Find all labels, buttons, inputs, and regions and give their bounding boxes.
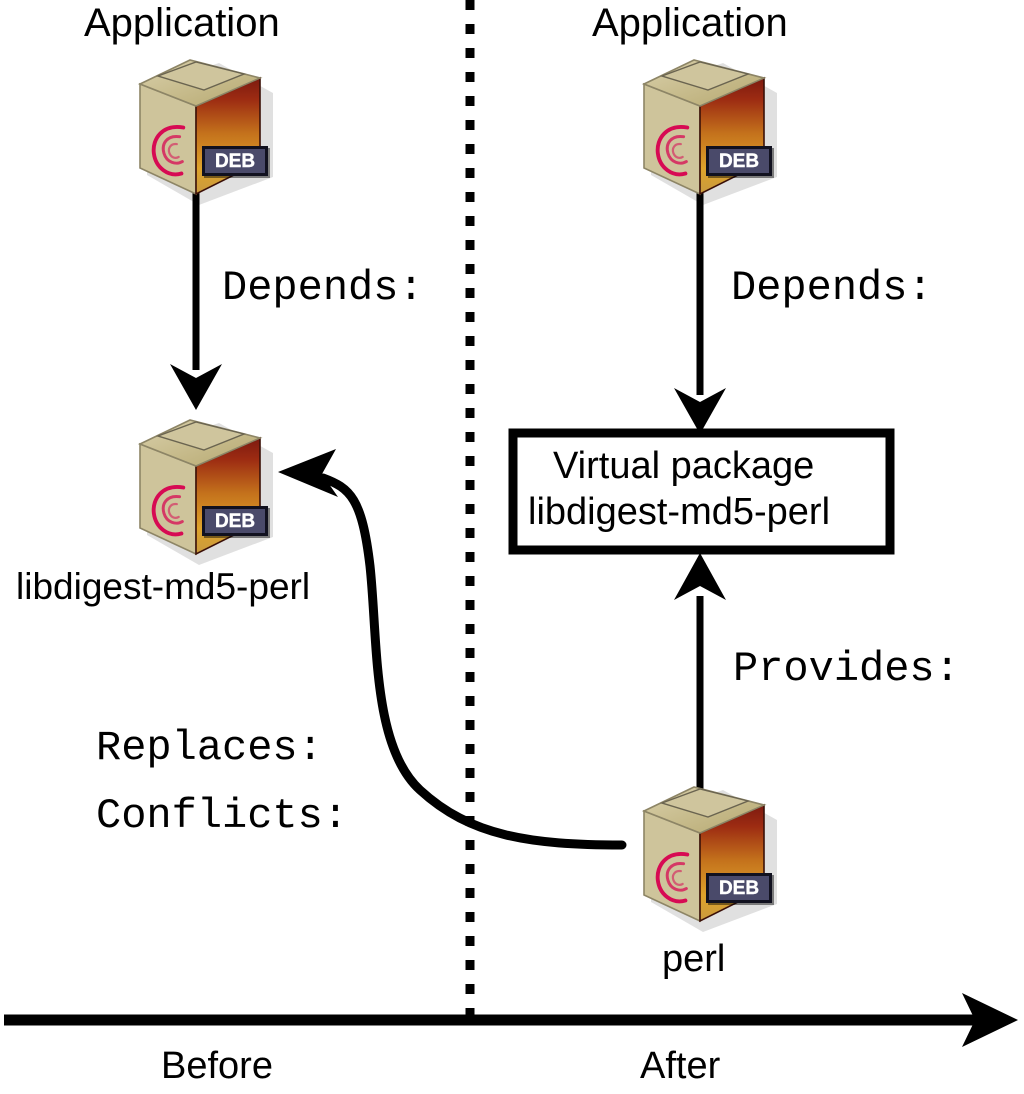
package-box-shape <box>118 48 278 208</box>
deb-badge: DEB <box>202 506 268 536</box>
replaces-label: Replaces: <box>96 727 323 769</box>
diagram-canvas: DEB <box>0 0 1024 1094</box>
deb-badge: DEB <box>706 146 772 176</box>
depends-arrow-before <box>170 193 222 410</box>
after-axis-label: After <box>640 1047 720 1085</box>
debian-package-icon-libdigest-md5-perl: DEB <box>118 408 278 568</box>
deb-badge-label: DEB <box>215 512 255 531</box>
package-box-shape <box>622 48 782 208</box>
application-label-after: Application <box>592 3 788 43</box>
virtual-package-line1: Virtual package <box>553 447 814 485</box>
package-box-shape <box>118 408 278 568</box>
depends-label-before: Depends: <box>222 267 424 309</box>
deb-badge: DEB <box>706 873 772 903</box>
debian-package-icon-application-before: DEB <box>118 48 278 208</box>
time-axis <box>4 993 1018 1047</box>
application-label-before: Application <box>84 3 280 43</box>
provides-label: Provides: <box>733 648 960 690</box>
depends-label-after: Depends: <box>731 267 933 309</box>
before-axis-label: Before <box>161 1047 273 1085</box>
debian-package-icon-perl: DEB <box>622 775 782 935</box>
provides-arrow <box>674 553 726 800</box>
conflicts-label: Conflicts: <box>96 795 348 837</box>
libdigest-md5-perl-label: libdigest-md5-perl <box>16 568 310 605</box>
deb-badge-label: DEB <box>719 879 759 898</box>
virtual-package-line2: libdigest-md5-perl <box>528 493 830 531</box>
package-box-shape <box>622 775 782 935</box>
debian-package-icon-application-after: DEB <box>622 48 782 208</box>
depends-arrow-after <box>674 192 726 434</box>
perl-label: perl <box>662 940 725 978</box>
deb-badge-label: DEB <box>719 152 759 171</box>
deb-badge-label: DEB <box>215 152 255 171</box>
deb-badge: DEB <box>202 146 268 176</box>
